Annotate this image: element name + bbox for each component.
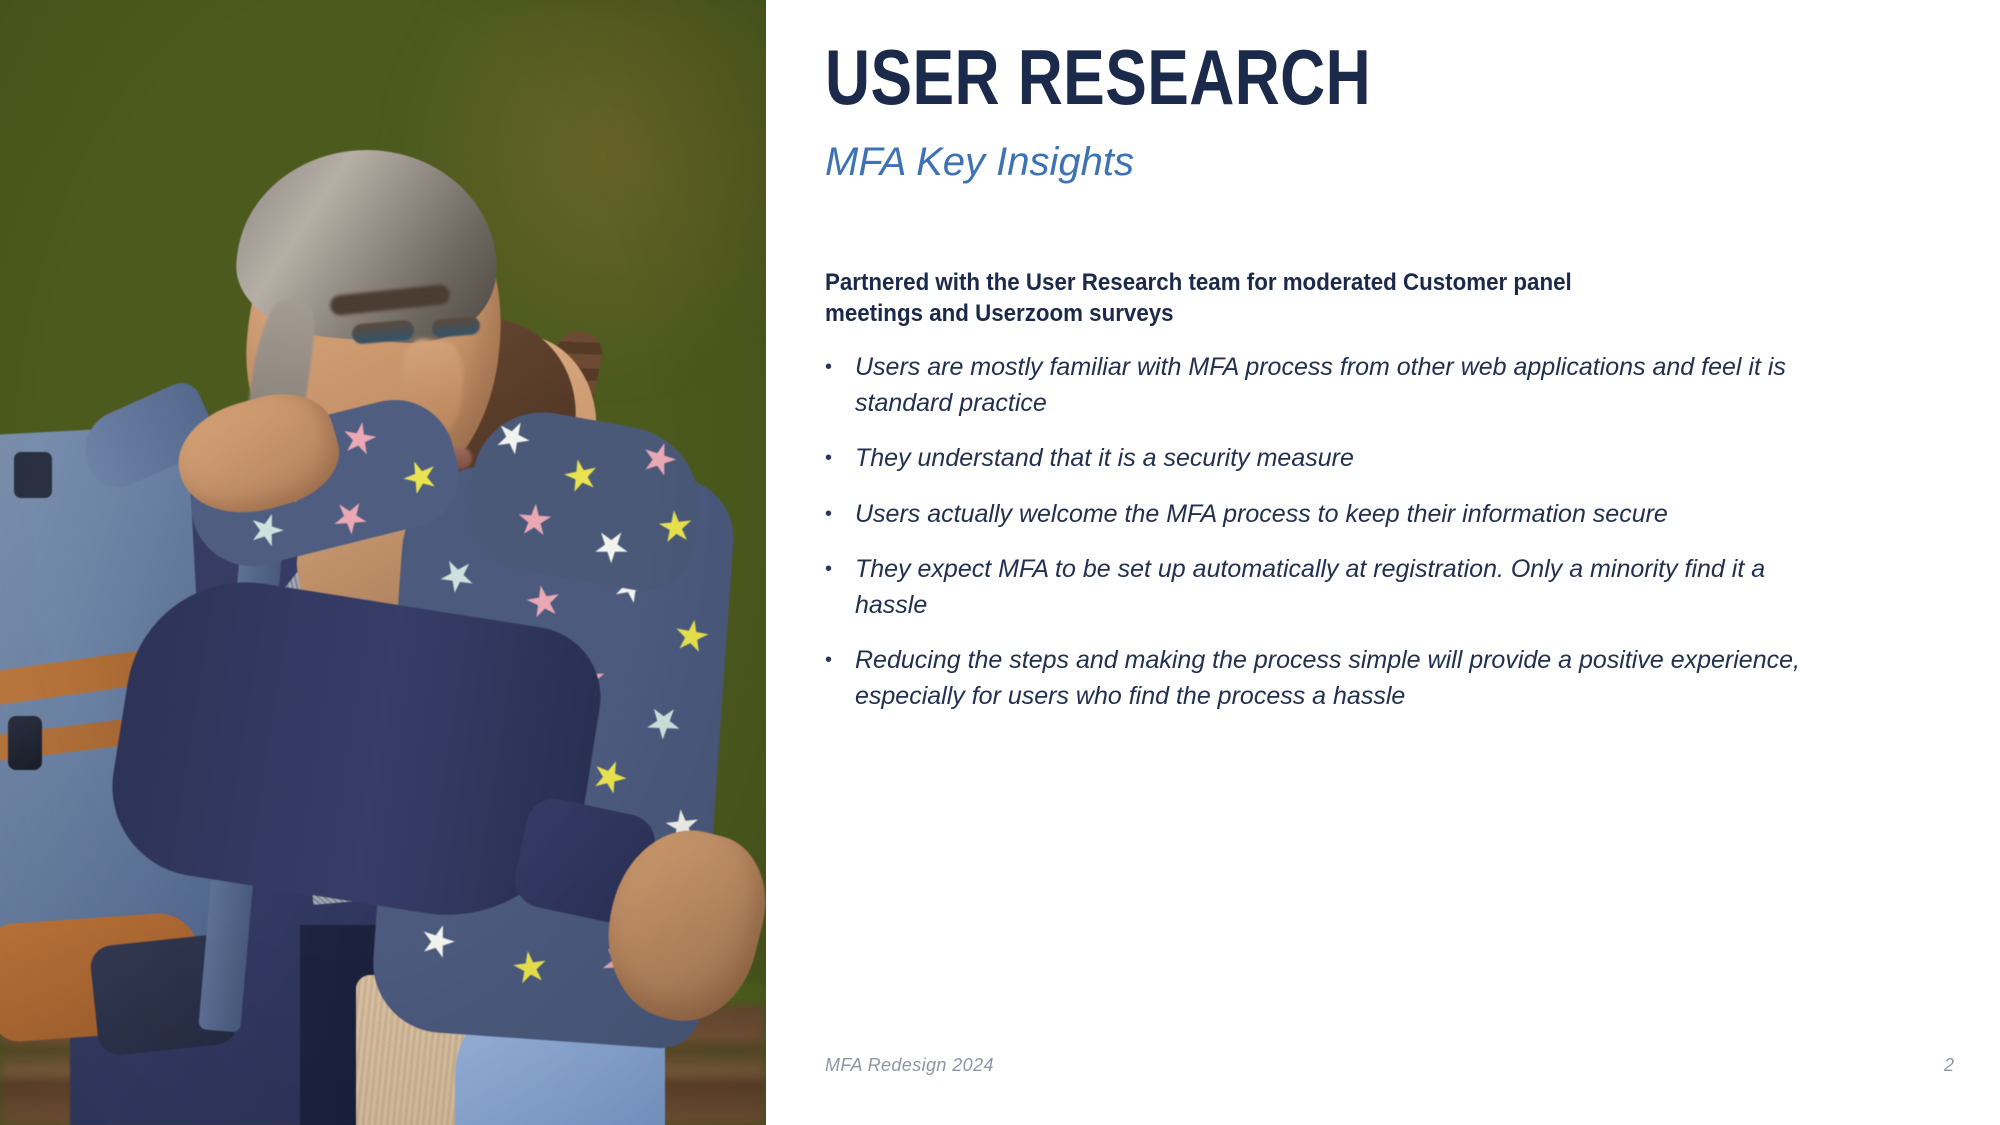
- page-subtitle: MFA Key Insights: [825, 140, 1134, 184]
- content-panel: USER RESEARCH MFA Key Insights Partnered…: [766, 0, 2000, 1125]
- list-item: • Users are mostly familiar with MFA pro…: [825, 350, 1825, 421]
- insights-bullet-list: • Users are mostly familiar with MFA pro…: [825, 350, 1825, 734]
- photo-vignette: [0, 0, 766, 1125]
- slide-canvas: USER RESEARCH MFA Key Insights Partnered…: [0, 0, 2000, 1125]
- list-item: • They expect MFA to be set up automatic…: [825, 552, 1825, 623]
- list-item-text: They understand that it is a security me…: [855, 441, 1825, 477]
- footer-note: MFA Redesign 2024: [825, 1055, 994, 1076]
- bullet-point-icon: •: [825, 441, 855, 473]
- list-item: • Reducing the steps and making the proc…: [825, 643, 1825, 714]
- bullet-point-icon: •: [825, 643, 855, 675]
- list-item-text: Users are mostly familiar with MFA proce…: [855, 350, 1825, 421]
- list-item: • They understand that it is a security …: [825, 441, 1825, 477]
- list-item-text: They expect MFA to be set up automatical…: [855, 552, 1825, 623]
- intro-paragraph: Partnered with the User Research team fo…: [825, 268, 1643, 329]
- list-item-text: Reducing the steps and making the proces…: [855, 643, 1825, 714]
- hero-photo: [0, 0, 766, 1125]
- list-item: • Users actually welcome the MFA process…: [825, 497, 1825, 533]
- list-item-text: Users actually welcome the MFA process t…: [855, 497, 1825, 533]
- bullet-point-icon: •: [825, 552, 855, 584]
- page-title: USER RESEARCH: [825, 38, 1371, 116]
- page-number: 2: [1944, 1055, 1954, 1076]
- bullet-point-icon: •: [825, 497, 855, 529]
- bullet-point-icon: •: [825, 350, 855, 382]
